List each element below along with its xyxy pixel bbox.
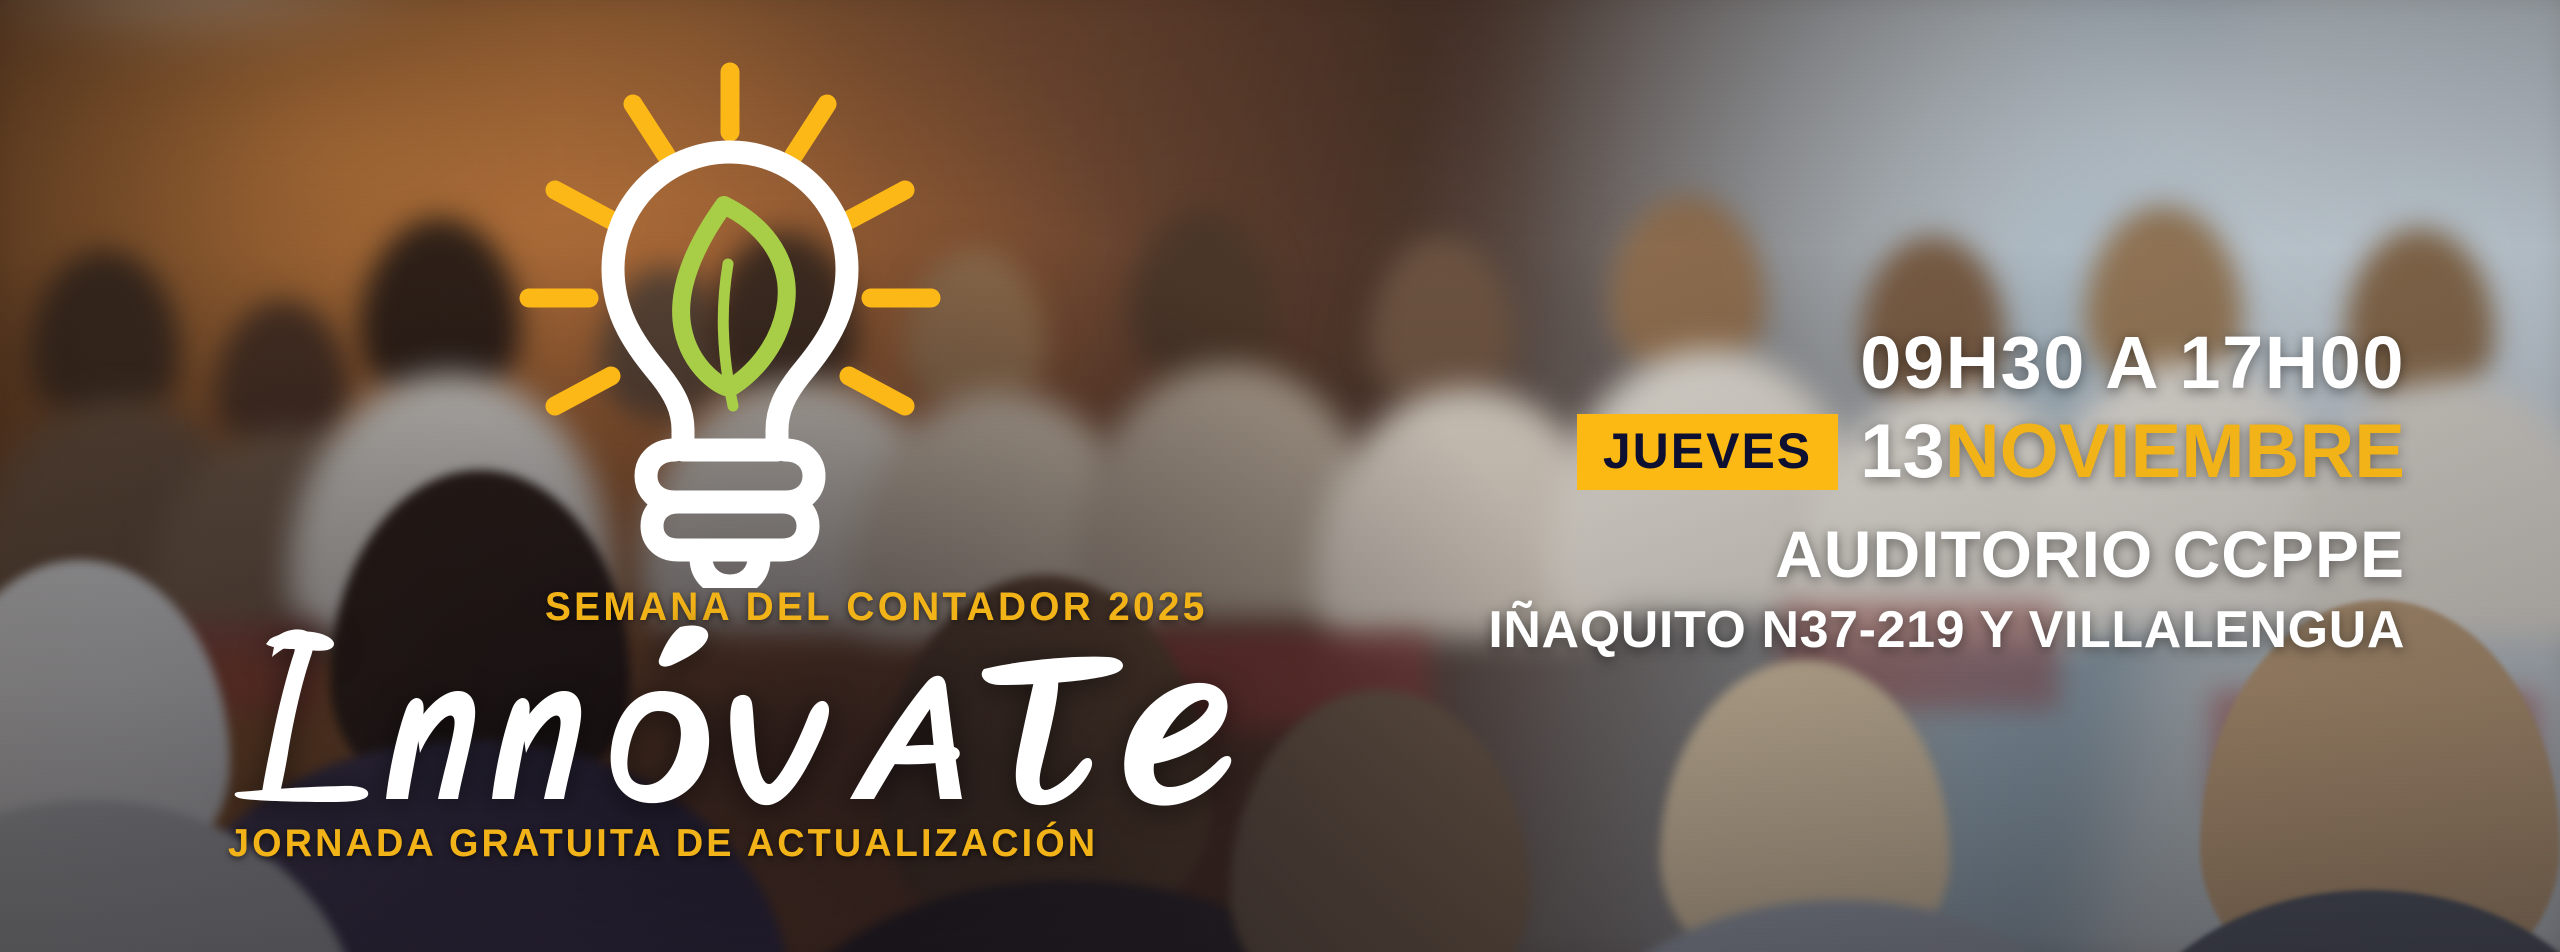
lightbulb-leaf-icon (515, 58, 945, 588)
event-date-row: JUEVES 13NOVIEMBRE (1215, 414, 2405, 490)
weekday-badge: JUEVES (1577, 414, 1838, 490)
logo-block: SEMANA DEL CONTADOR 2025 (210, 40, 1300, 920)
innovate-script-logo (210, 613, 1300, 813)
event-details: 09H30 A 17H00 JUEVES 13NOVIEMBRE AUDITOR… (1215, 325, 2405, 659)
event-address: IÑAQUITO N37-219 Y VILLALENGUA (1215, 602, 2405, 659)
event-venue: AUDITORIO CCPPE (1215, 520, 2405, 589)
event-time: 09H30 A 17H00 (1215, 325, 2405, 400)
event-date: 13NOVIEMBRE (1860, 414, 2405, 490)
bulb-base (646, 450, 814, 586)
logo-subline: JORNADA GRATUITA DE ACTUALIZACIÓN (228, 822, 1098, 866)
event-date-number: 13 (1860, 414, 1945, 490)
leaf-icon (681, 205, 787, 406)
event-date-month: NOVIEMBRE (1945, 414, 2405, 490)
event-banner: SEMANA DEL CONTADOR 2025 (0, 0, 2560, 952)
